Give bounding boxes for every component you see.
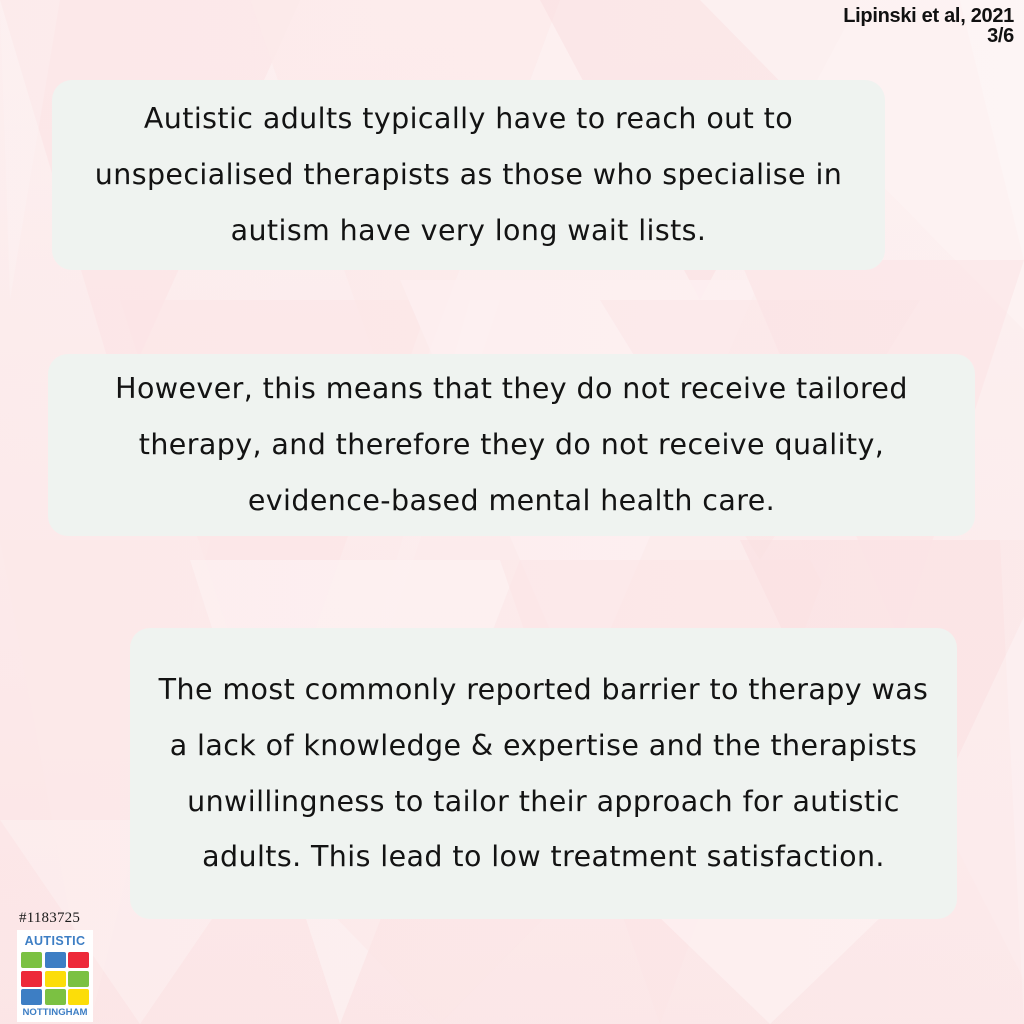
citation-header: Lipinski et al, 2021 3/6 [843, 6, 1014, 47]
text-card-1-body: Autistic adults typically have to reach … [52, 91, 885, 259]
page-indicator: 3/6 [843, 26, 1014, 46]
text-card-3: The most commonly reported barrier to th… [130, 628, 957, 919]
slide-canvas: Lipinski et al, 2021 3/6 Autistic adults… [0, 0, 1024, 1024]
logo-tile-2 [45, 952, 66, 968]
logo-word-autistic: AUTISTIC [21, 934, 89, 950]
footer-branding: #1183725 AUTISTIC NOTTINGHAM [17, 910, 99, 1022]
logo-tile-3 [68, 952, 89, 968]
logo-tile-4 [21, 971, 42, 987]
logo-word-nottingham: NOTTINGHAM [21, 1007, 89, 1019]
logo-tile-5 [45, 971, 66, 987]
citation-source: Lipinski et al, 2021 [843, 6, 1014, 26]
text-card-1: Autistic adults typically have to reach … [52, 80, 885, 270]
logo-tile-8 [45, 989, 66, 1005]
logo-tile-1 [21, 952, 42, 968]
logo-color-grid [21, 952, 89, 1005]
logo-tile-7 [21, 989, 42, 1005]
text-card-3-body: The most commonly reported barrier to th… [130, 662, 957, 885]
text-card-2: However, this means that they do not rec… [48, 354, 975, 536]
text-card-2-body: However, this means that they do not rec… [48, 361, 975, 529]
charity-number-hashtag: #1183725 [17, 910, 99, 927]
logo-tile-6 [68, 971, 89, 987]
autistic-nottingham-logo[interactable]: AUTISTIC NOTTINGHAM [17, 930, 93, 1022]
logo-tile-9 [68, 989, 89, 1005]
